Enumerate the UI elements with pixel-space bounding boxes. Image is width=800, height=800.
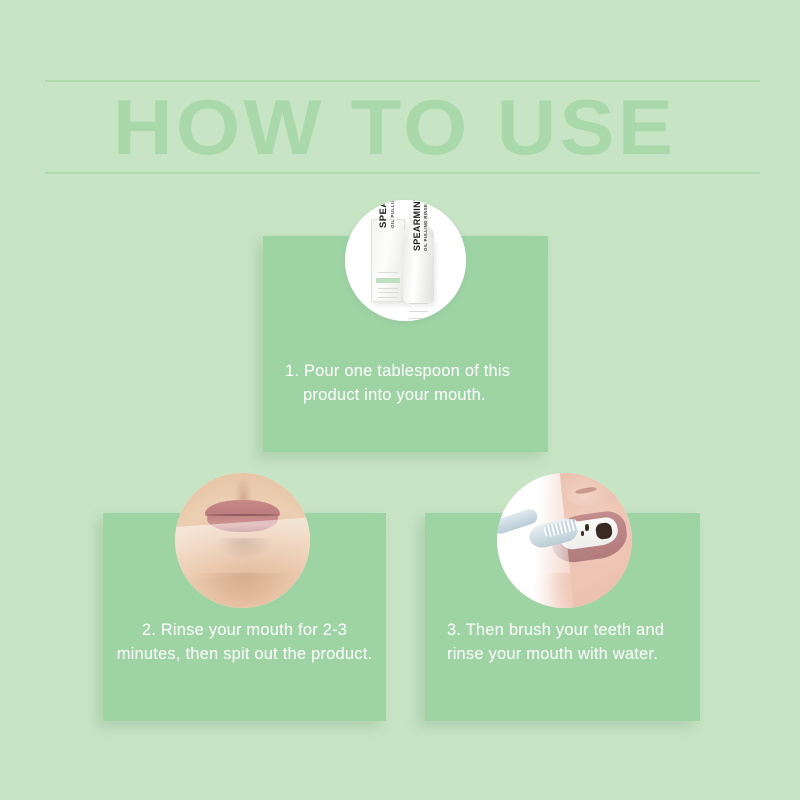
step-2-text-line-3: product.	[311, 645, 372, 663]
product-box-line-1	[378, 272, 398, 273]
lips-photo-chin-shadow	[199, 573, 285, 605]
product-box-line-2	[378, 288, 398, 289]
bottle-body: SPEARMINT OIL PULLING RINSE	[403, 237, 434, 303]
toothbrush-photo-mouth-gap-2	[585, 524, 589, 531]
product-box-accent-band	[376, 278, 400, 283]
infographic-canvas: HOW TO USE 1. Pour one tablespoon of thi…	[0, 0, 800, 800]
header-rule-bottom	[45, 172, 760, 174]
lips-photo-lip-line	[207, 514, 277, 516]
product-box-type-label: OIL PULLING RINSE	[390, 200, 395, 228]
product-box-line-3	[378, 292, 398, 293]
step-3-text-line-1: 3. Then brush your teeth and	[447, 621, 664, 639]
step-3-text-line-2: rinse your mouth with water.	[447, 645, 658, 663]
header-rule-top	[45, 80, 760, 82]
step-1-text-line-1: 1. Pour one tablespoon of this	[285, 362, 510, 380]
page-title: HOW TO USE	[113, 86, 676, 168]
lips-photo-philtrum	[234, 476, 253, 500]
step-1-media-circle: SPEARMINT OIL PULLING RINSE SPEARMINT OI…	[345, 200, 466, 321]
header: HOW TO USE	[45, 80, 760, 175]
product-box: SPEARMINT OIL PULLING RINSE	[371, 219, 405, 302]
step-2-text-line-2: minutes, then spit out the	[117, 645, 307, 663]
product-bottle: SPEARMINT OIL PULLING RINSE	[401, 212, 436, 303]
lips-photo	[175, 473, 310, 608]
toothbrush-photo	[497, 473, 632, 608]
product-box-brand-label: SPEARMINT	[378, 200, 389, 228]
bottle-line-3	[409, 318, 428, 319]
step-1-text-line-2: product into your mouth.	[285, 383, 540, 407]
bottle-line-1	[409, 303, 428, 304]
step-3-text: 3. Then brush your teeth and rinse your …	[447, 618, 693, 666]
bottle-brand-label: SPEARMINT	[412, 200, 422, 251]
product-photo: SPEARMINT OIL PULLING RINSE SPEARMINT OI…	[345, 200, 466, 321]
lips-photo-highlight	[175, 516, 310, 581]
step-1-text: 1. Pour one tablespoon of this product i…	[285, 359, 540, 407]
step-3-media-circle	[497, 473, 632, 608]
step-2-text: 2. Rinse your mouth for 2-3 minutes, the…	[115, 618, 374, 666]
toothbrush-photo-chin	[546, 573, 614, 608]
step-2-media-circle	[175, 473, 310, 608]
product-box-line-4	[378, 297, 398, 298]
bottle-type-label: OIL PULLING RINSE	[423, 200, 428, 251]
step-2-text-line-1: 2. Rinse your mouth for 2-3	[142, 621, 347, 639]
bottle-line-2	[409, 311, 428, 312]
